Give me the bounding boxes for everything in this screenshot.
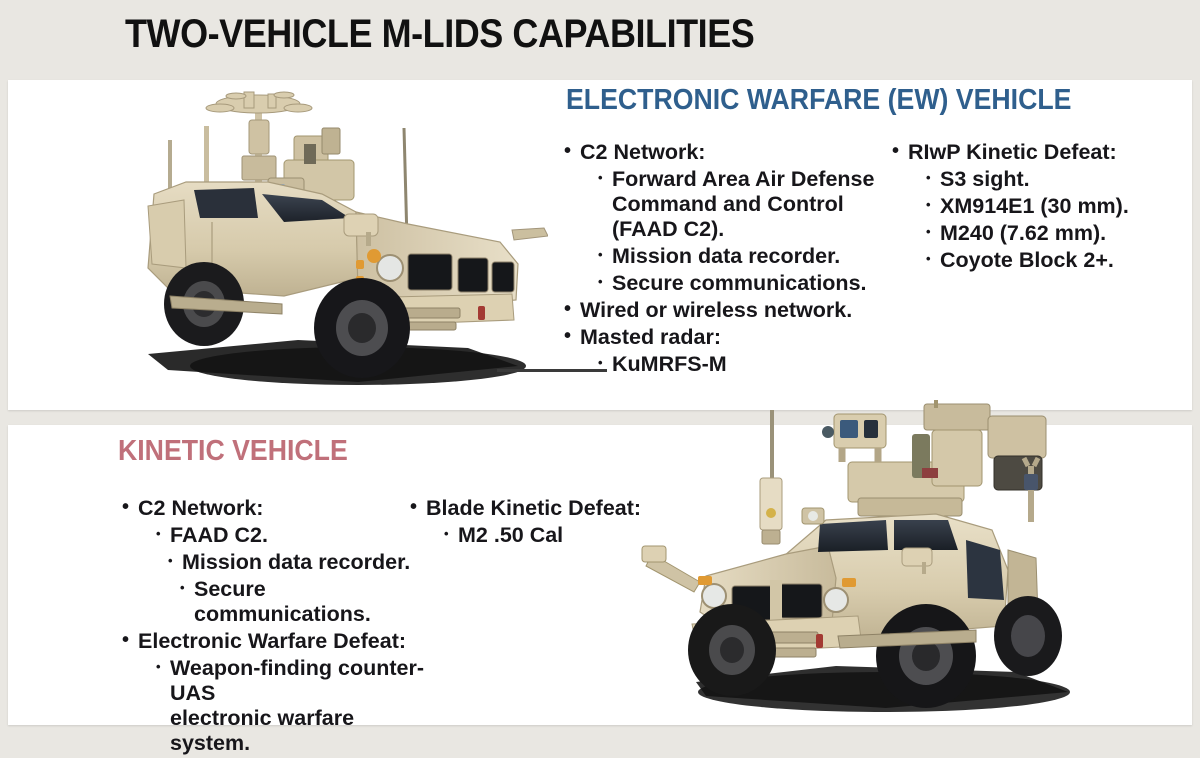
kinetic-section-heading: KINETIC VEHICLE (118, 435, 348, 468)
bullet-item: C2 Network: (562, 140, 912, 165)
bullet-item: Electronic Warfare Defeat: (120, 629, 430, 654)
kinetic-vehicle-photo (636, 400, 1098, 730)
ew-bullets-right-column: RIwP Kinetic Defeat: S3 sight. XM914E1 (… (890, 140, 1190, 275)
kinetic-bullets-right-column: Blade Kinetic Defeat: M2 .50 Cal (408, 496, 658, 550)
ew-bullets-left-column: C2 Network: Forward Area Air Defense Com… (562, 140, 912, 379)
bullet-item: Secure communications. (562, 271, 912, 296)
bullet-item: Masted radar: (562, 325, 912, 350)
title-bar: TWO-VEHICLE M-LIDS CAPABILITIES (0, 0, 1200, 78)
bullet-item: Weapon-finding counter-UAS electronic wa… (120, 656, 430, 756)
page-title: TWO-VEHICLE M-LIDS CAPABILITIES (125, 12, 754, 57)
kinetic-bullets-left-column: C2 Network: FAAD C2. Mission data record… (120, 496, 430, 758)
bullet-item: Blade Kinetic Defeat: (408, 496, 658, 521)
bullet-item: M2 .50 Cal (408, 523, 658, 548)
ew-section-heading: ELECTRONIC WARFARE (EW) VEHICLE (566, 84, 1071, 117)
bullet-item: Forward Area Air Defense Command and Con… (562, 167, 912, 242)
bullet-item: Mission data recorder. (562, 244, 912, 269)
bullet-item: Coyote Block 2+. (890, 248, 1190, 273)
bullet-item: Mission data recorder. (120, 550, 430, 575)
bullet-item: KuMRFS-M (562, 352, 912, 377)
ew-vehicle-photo (108, 82, 548, 400)
bullet-item: M240 (7.62 mm). (890, 221, 1190, 246)
infographic-root: TWO-VEHICLE M-LIDS CAPABILITIES (0, 0, 1200, 748)
bullet-item: S3 sight. (890, 167, 1190, 192)
bullet-item: XM914E1 (30 mm). (890, 194, 1190, 219)
bullet-item: FAAD C2. (120, 523, 430, 548)
bullet-item: C2 Network: (120, 496, 430, 521)
bullet-item: RIwP Kinetic Defeat: (890, 140, 1190, 165)
bullet-item: Wired or wireless network. (562, 298, 912, 323)
bullet-item: Secure communications. (120, 577, 430, 627)
